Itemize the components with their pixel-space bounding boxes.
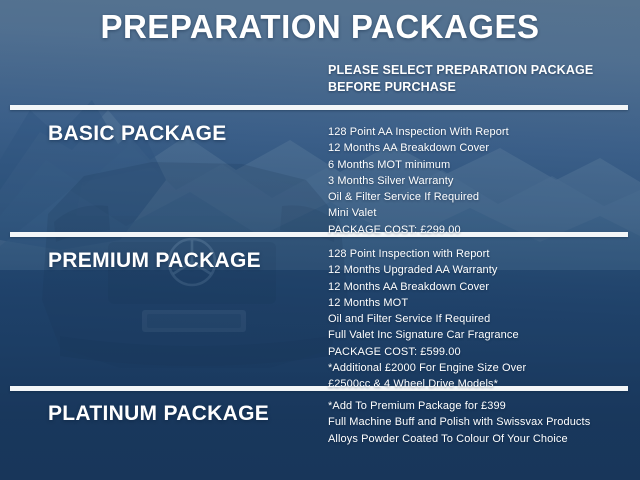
list-item: Full Valet Inc Signature Car Fragrance [328, 327, 526, 343]
divider-line-top [10, 105, 628, 110]
select-package-instruction: PLEASE SELECT PREPARATION PACKAGE BEFORE… [328, 62, 593, 96]
list-item: Full Machine Buff and Polish with Swissv… [328, 414, 590, 430]
list-item: Alloys Powder Coated To Colour Of Your C… [328, 431, 590, 447]
poster-content: PREPARATION PACKAGES PLEASE SELECT PREPA… [0, 0, 640, 480]
preparation-packages-poster: PREPARATION PACKAGES PLEASE SELECT PREPA… [0, 0, 640, 480]
list-item: 12 Months Upgraded AA Warranty [328, 262, 526, 278]
page-title: PREPARATION PACKAGES [0, 8, 640, 46]
package-features-basic: 128 Point AA Inspection With Report 12 M… [328, 124, 509, 238]
list-item: 6 Months MOT minimum [328, 157, 509, 173]
package-note-premium-line-2: £2500cc & 4 Wheel Drive Models* [328, 376, 526, 392]
list-item: 128 Point Inspection with Report [328, 246, 526, 262]
package-features-platinum: *Add To Premium Package for £399 Full Ma… [328, 398, 590, 447]
divider-line-bottom [10, 386, 628, 391]
package-cost-platinum: *Add To Premium Package for £399 [328, 398, 590, 414]
instruction-line-1: PLEASE SELECT PREPARATION PACKAGE [328, 62, 593, 79]
divider-line-middle [10, 232, 628, 237]
package-features-premium: 128 Point Inspection with Report 12 Mont… [328, 246, 526, 393]
list-item: 12 Months AA Breakdown Cover [328, 279, 526, 295]
instruction-line-2: BEFORE PURCHASE [328, 79, 593, 96]
package-cost-basic: PACKAGE COST: £299.00 [328, 222, 509, 238]
package-title-premium: PREMIUM PACKAGE [48, 249, 261, 273]
list-item: 3 Months Silver Warranty [328, 173, 509, 189]
list-item: 12 Months AA Breakdown Cover [328, 140, 509, 156]
package-title-basic: BASIC PACKAGE [48, 122, 227, 146]
list-item: Oil and Filter Service If Required [328, 311, 526, 327]
list-item: Oil & Filter Service If Required [328, 189, 509, 205]
package-note-premium-line-1: *Additional £2000 For Engine Size Over [328, 360, 526, 376]
list-item: Mini Valet [328, 205, 509, 221]
list-item: 12 Months MOT [328, 295, 526, 311]
package-title-platinum: PLATINUM PACKAGE [48, 402, 269, 426]
package-cost-premium: PACKAGE COST: £599.00 [328, 344, 526, 360]
list-item: 128 Point AA Inspection With Report [328, 124, 509, 140]
